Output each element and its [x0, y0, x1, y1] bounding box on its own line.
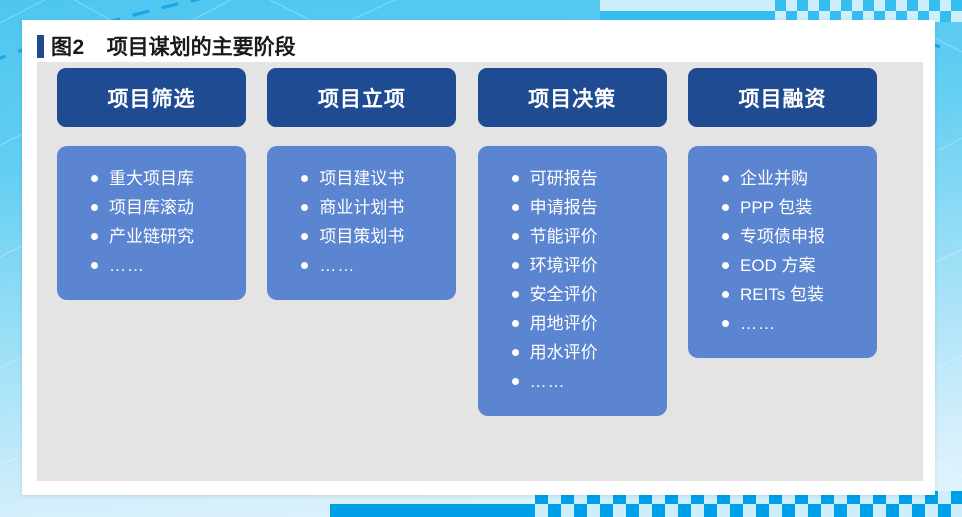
- checker-cell: [847, 504, 860, 517]
- checker-cell: [775, 0, 786, 11]
- checker-cell: [743, 504, 756, 517]
- bullet-dot-icon: [301, 175, 308, 182]
- list-item: 项目建议书: [267, 164, 404, 193]
- checker-cell: [834, 504, 847, 517]
- checker-cell: [896, 0, 907, 11]
- list-item-label: 企业并购: [740, 170, 808, 187]
- checker-cell: [918, 0, 929, 11]
- list-item: 企业并购: [688, 164, 808, 193]
- list-item: 可研报告: [478, 164, 598, 193]
- list-item: 环境评价: [478, 251, 598, 280]
- list-item: ……: [478, 367, 566, 396]
- list-item-label: 产业链研究: [109, 228, 194, 245]
- checker-cell: [574, 504, 587, 517]
- bullet-dot-icon: [91, 204, 98, 211]
- checker-cell: [885, 0, 896, 11]
- list-item-label: 用水评价: [530, 344, 598, 361]
- list-item: PPP 包装: [688, 193, 812, 222]
- checker-cell: [938, 491, 951, 504]
- list-item-label: 环境评价: [530, 257, 598, 274]
- list-item-label: 用地评价: [530, 315, 598, 332]
- list-item-label: 安全评价: [530, 286, 598, 303]
- bullet-dot-icon: [301, 262, 308, 269]
- list-item: 安全评价: [478, 280, 598, 309]
- list-item-label: 商业计划书: [319, 199, 404, 216]
- checker-cell: [912, 504, 925, 517]
- bullet-dot-icon: [722, 262, 729, 269]
- checker-cell: [951, 491, 962, 504]
- list-item-label: ……: [109, 257, 145, 274]
- checker-cell: [691, 504, 704, 517]
- bullet-dot-icon: [512, 175, 519, 182]
- checker-cell: [899, 504, 912, 517]
- checker-cell: [808, 0, 819, 11]
- list-item: ……: [267, 251, 355, 280]
- list-item-label: 申请报告: [530, 199, 598, 216]
- checkerboard-top: [600, 0, 962, 22]
- checker-cell: [626, 504, 639, 517]
- checker-cell: [797, 0, 808, 11]
- list-item-label: 专项债申报: [740, 228, 825, 245]
- bullet-dot-icon: [722, 291, 729, 298]
- list-item: 产业链研究: [57, 222, 194, 251]
- content-card: 图2 项目谋划的主要阶段 项目筛选重大项目库项目库滚动产业链研究……项目立项项目…: [22, 20, 935, 495]
- figure-title-text: 项目谋划的主要阶段: [107, 31, 296, 61]
- checker-cell: [561, 504, 574, 517]
- checker-cell: [852, 0, 863, 11]
- checker-cell: [600, 504, 613, 517]
- checker-cell: [769, 504, 782, 517]
- list-item: 项目策划书: [267, 222, 404, 251]
- list-item: 项目库滚动: [57, 193, 194, 222]
- bullet-dot-icon: [512, 262, 519, 269]
- list-item: 专项债申报: [688, 222, 825, 251]
- list-item-label: PPP 包装: [740, 199, 812, 216]
- list-item: ……: [57, 251, 145, 280]
- checker-cell: [925, 504, 938, 517]
- list-item-label: 项目建议书: [319, 170, 404, 187]
- stage-header[interactable]: 项目立项: [267, 68, 456, 127]
- checker-cell: [938, 504, 951, 517]
- checker-cell: [782, 504, 795, 517]
- figure-number: 图2: [51, 31, 85, 61]
- checker-cell: [940, 0, 951, 11]
- list-item: 用地评价: [478, 309, 598, 338]
- stage-column: 项目立项项目建议书商业计划书项目策划书……: [267, 68, 456, 300]
- checker-cell: [652, 504, 665, 517]
- list-item-label: ……: [740, 315, 776, 332]
- list-item: 重大项目库: [57, 164, 194, 193]
- bullet-dot-icon: [722, 204, 729, 211]
- list-item-label: 重大项目库: [109, 170, 194, 187]
- checker-cell: [587, 504, 600, 517]
- list-item: 申请报告: [478, 193, 598, 222]
- checker-cell: [665, 504, 678, 517]
- list-item: EOD 方案: [688, 251, 816, 280]
- bullet-dot-icon: [512, 291, 519, 298]
- bullet-dot-icon: [91, 175, 98, 182]
- checker-cell: [535, 504, 548, 517]
- bullet-dot-icon: [91, 262, 98, 269]
- checker-cell: [639, 504, 652, 517]
- stage-column: 项目决策可研报告申请报告节能评价环境评价安全评价用地评价用水评价……: [478, 68, 667, 416]
- stage-header[interactable]: 项目决策: [478, 68, 667, 127]
- bullet-dot-icon: [512, 349, 519, 356]
- title-marker-bar: [37, 35, 44, 58]
- list-item-label: 项目库滚动: [109, 199, 194, 216]
- checker-cell: [863, 0, 874, 11]
- list-item-label: ……: [319, 257, 355, 274]
- bullet-dot-icon: [512, 378, 519, 385]
- checker-cell: [907, 0, 918, 11]
- checker-cell: [951, 0, 962, 11]
- checker-cell: [795, 504, 808, 517]
- checker-cell: [940, 11, 951, 22]
- stage-item-list: 可研报告申请报告节能评价环境评价安全评价用地评价用水评价……: [478, 146, 667, 416]
- figure-title: 图2 项目谋划的主要阶段: [37, 31, 296, 61]
- checker-cell: [678, 504, 691, 517]
- checker-cell: [929, 0, 940, 11]
- checker-cell: [786, 0, 797, 11]
- list-item-label: 可研报告: [530, 170, 598, 187]
- checker-cell: [886, 504, 899, 517]
- list-item: 节能评价: [478, 222, 598, 251]
- list-item-label: 节能评价: [530, 228, 598, 245]
- list-item: ……: [688, 309, 776, 338]
- stage-header[interactable]: 项目筛选: [57, 68, 246, 127]
- list-item: 用水评价: [478, 338, 598, 367]
- list-item-label: EOD 方案: [740, 257, 816, 274]
- list-item: 商业计划书: [267, 193, 404, 222]
- checker-cell: [756, 504, 769, 517]
- stage-item-list: 重大项目库项目库滚动产业链研究……: [57, 146, 246, 300]
- stage-columns: 项目筛选重大项目库项目库滚动产业链研究……项目立项项目建议书商业计划书项目策划书…: [57, 68, 877, 416]
- bullet-dot-icon: [722, 320, 729, 327]
- bullet-dot-icon: [91, 233, 98, 240]
- bullet-dot-icon: [512, 320, 519, 327]
- checker-cell: [951, 11, 962, 22]
- bullet-dot-icon: [722, 175, 729, 182]
- checker-cell: [819, 0, 830, 11]
- checker-cell: [808, 504, 821, 517]
- checker-cell: [873, 504, 886, 517]
- checker-cell: [874, 0, 885, 11]
- checker-cell: [548, 504, 561, 517]
- checker-cell: [821, 504, 834, 517]
- bullet-dot-icon: [512, 204, 519, 211]
- checker-cell: [841, 0, 852, 11]
- bullet-dot-icon: [301, 233, 308, 240]
- stage-item-list: 企业并购PPP 包装专项债申报EOD 方案REITs 包装……: [688, 146, 877, 358]
- bullet-dot-icon: [722, 233, 729, 240]
- stage-item-list: 项目建议书商业计划书项目策划书……: [267, 146, 456, 300]
- list-item-label: ……: [530, 373, 566, 390]
- checker-cell: [951, 504, 962, 517]
- stage-header[interactable]: 项目融资: [688, 68, 877, 127]
- stage-column: 项目融资企业并购PPP 包装专项债申报EOD 方案REITs 包装……: [688, 68, 877, 358]
- stage-column: 项目筛选重大项目库项目库滚动产业链研究……: [57, 68, 246, 300]
- checker-cell: [830, 0, 841, 11]
- slide-canvas: 图2 项目谋划的主要阶段 项目筛选重大项目库项目库滚动产业链研究……项目立项项目…: [0, 0, 962, 517]
- checker-cell: [717, 504, 730, 517]
- checker-cell: [860, 504, 873, 517]
- list-item: REITs 包装: [688, 280, 824, 309]
- bullet-dot-icon: [301, 204, 308, 211]
- checker-cell: [613, 504, 626, 517]
- checker-cell: [730, 504, 743, 517]
- list-item-label: REITs 包装: [740, 286, 824, 303]
- bullet-dot-icon: [512, 233, 519, 240]
- list-item-label: 项目策划书: [319, 228, 404, 245]
- checker-cell: [704, 504, 717, 517]
